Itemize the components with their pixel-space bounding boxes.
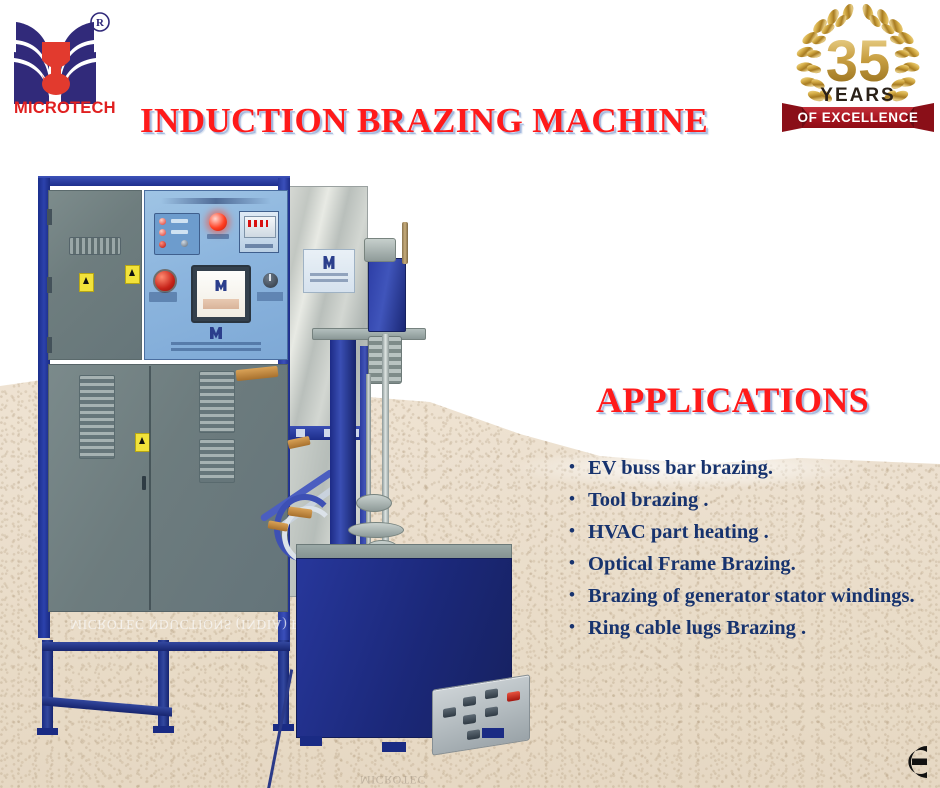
microtech-logo: R MICROTECH [8, 8, 114, 120]
applications-heading: APPLICATIONS [596, 382, 869, 418]
emergency-stop-label [149, 292, 177, 302]
list-item: HVAC part heating . [566, 516, 938, 548]
panel-brand-text [171, 342, 261, 353]
page-title: INDUCTION BRAZING MACHINE [140, 103, 760, 138]
door-handle[interactable] [142, 476, 146, 490]
pneumatic-cylinder [368, 258, 406, 332]
frame-top [38, 176, 290, 186]
poster-canvas: R MICROTECH INDUCTION BRAZING MACHINE [0, 0, 940, 788]
list-item: Brazing of generator stator windings. [566, 580, 938, 612]
machine-legs [38, 640, 290, 736]
door-seam [149, 366, 151, 610]
warning-label-icon [135, 433, 150, 452]
anniversary-badge: 35 YEARS OF EXCELLENCE [780, 4, 936, 134]
digital-meter [239, 211, 279, 253]
selector-knob-label [257, 292, 283, 301]
fixture-shaft [382, 334, 389, 546]
cylinder-head [364, 238, 396, 262]
hmi-touchscreen[interactable] [191, 265, 251, 323]
fixture-disc [348, 522, 404, 538]
svg-text:R: R [96, 17, 105, 29]
cylinder-rod [402, 222, 408, 264]
machine-nameplate [303, 249, 355, 293]
list-item: EV buss bar brazing. [566, 452, 938, 484]
applications-list: EV buss bar brazing. Tool brazing . HVAC… [566, 452, 938, 644]
list-item: Tool brazing . [566, 484, 938, 516]
logo-wordmark: MICROTECH [14, 100, 114, 117]
fixture-column [330, 334, 356, 552]
lower-cabinet-doors [48, 364, 288, 612]
machine-photo: MICROTEC NDUCTIONS (INDIA) PVT. LTD... [30, 176, 550, 736]
stainless-side-cabinet [288, 186, 368, 428]
breaker-vent [69, 237, 121, 255]
fixture-shaft [366, 374, 371, 544]
badge-years-label: YEARS [820, 85, 895, 106]
selector-knob[interactable] [263, 273, 278, 288]
upper-left-door [48, 190, 142, 360]
badge-ribbon-text: OF EXCELLENCE [797, 110, 918, 125]
list-item: Ring cable lugs Brazing . [566, 612, 938, 644]
control-panel[interactable] [144, 190, 288, 360]
ce-mark-icon [872, 742, 930, 782]
indicator-lamp-group [154, 213, 200, 255]
list-item: Optical Frame Brazing. [566, 548, 938, 580]
power-indicator-lamp [209, 213, 227, 231]
fixture-disc [356, 494, 392, 512]
emergency-stop-button[interactable] [153, 269, 177, 293]
panel-title-strip [161, 198, 271, 204]
panel-brand-icon [210, 327, 222, 339]
warning-label-icon [79, 273, 94, 292]
lamp-label [207, 234, 229, 239]
warning-label-icon [125, 265, 140, 284]
